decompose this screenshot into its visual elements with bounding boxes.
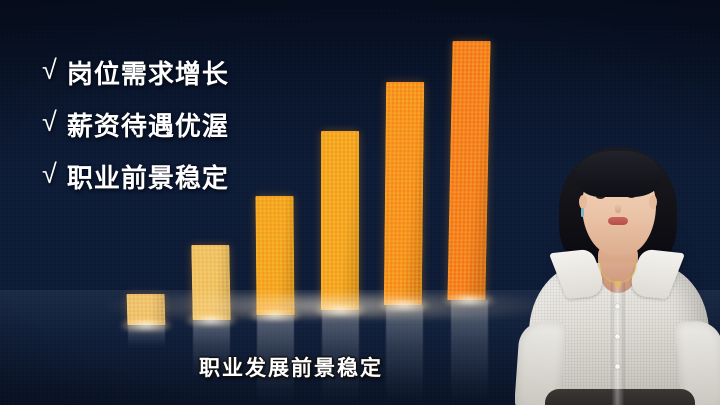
nose — [615, 204, 621, 213]
bar-4 — [321, 131, 359, 310]
mouth — [608, 217, 628, 225]
earring — [581, 208, 584, 217]
presenter-figure — [515, 130, 720, 405]
bullet-item-3: √ 职业前景稳定 — [42, 150, 229, 202]
ear-right — [649, 195, 657, 209]
bar-reflection — [322, 310, 359, 405]
bar-5 — [384, 82, 424, 305]
shirt-placket — [611, 281, 625, 405]
necklace-pendant — [615, 281, 621, 287]
slide-canvas: √ 岗位需求增长 √ 薪资待遇优渥 √ 职业前景稳定 职业发展前景稳定 — [0, 0, 720, 405]
bullet-list: √ 岗位需求增长 √ 薪资待遇优渥 √ 职业前景稳定 — [42, 46, 229, 202]
bullet-item-label: 职业前景稳定 — [67, 158, 229, 195]
check-icon: √ — [42, 161, 57, 188]
check-icon: √ — [42, 109, 57, 136]
shirt-button — [615, 304, 620, 309]
bar-reflection — [386, 305, 423, 405]
hair-fringe — [575, 151, 661, 197]
bar-6 — [447, 41, 490, 300]
check-icon: √ — [42, 57, 57, 84]
shirt-button — [615, 364, 620, 369]
bar-reflection — [193, 320, 230, 379]
bar-reflection — [128, 325, 165, 349]
bullet-item-1: √ 岗位需求增长 — [42, 46, 229, 98]
bullet-item-2: √ 薪资待遇优渥 — [42, 98, 229, 150]
bullet-item-label: 岗位需求增长 — [67, 54, 229, 91]
shirt-button — [615, 334, 620, 339]
bar-reflection — [257, 315, 294, 405]
bullet-item-label: 薪资待遇优渥 — [67, 106, 229, 143]
floor-glow — [90, 293, 570, 319]
ear-left — [579, 195, 587, 209]
